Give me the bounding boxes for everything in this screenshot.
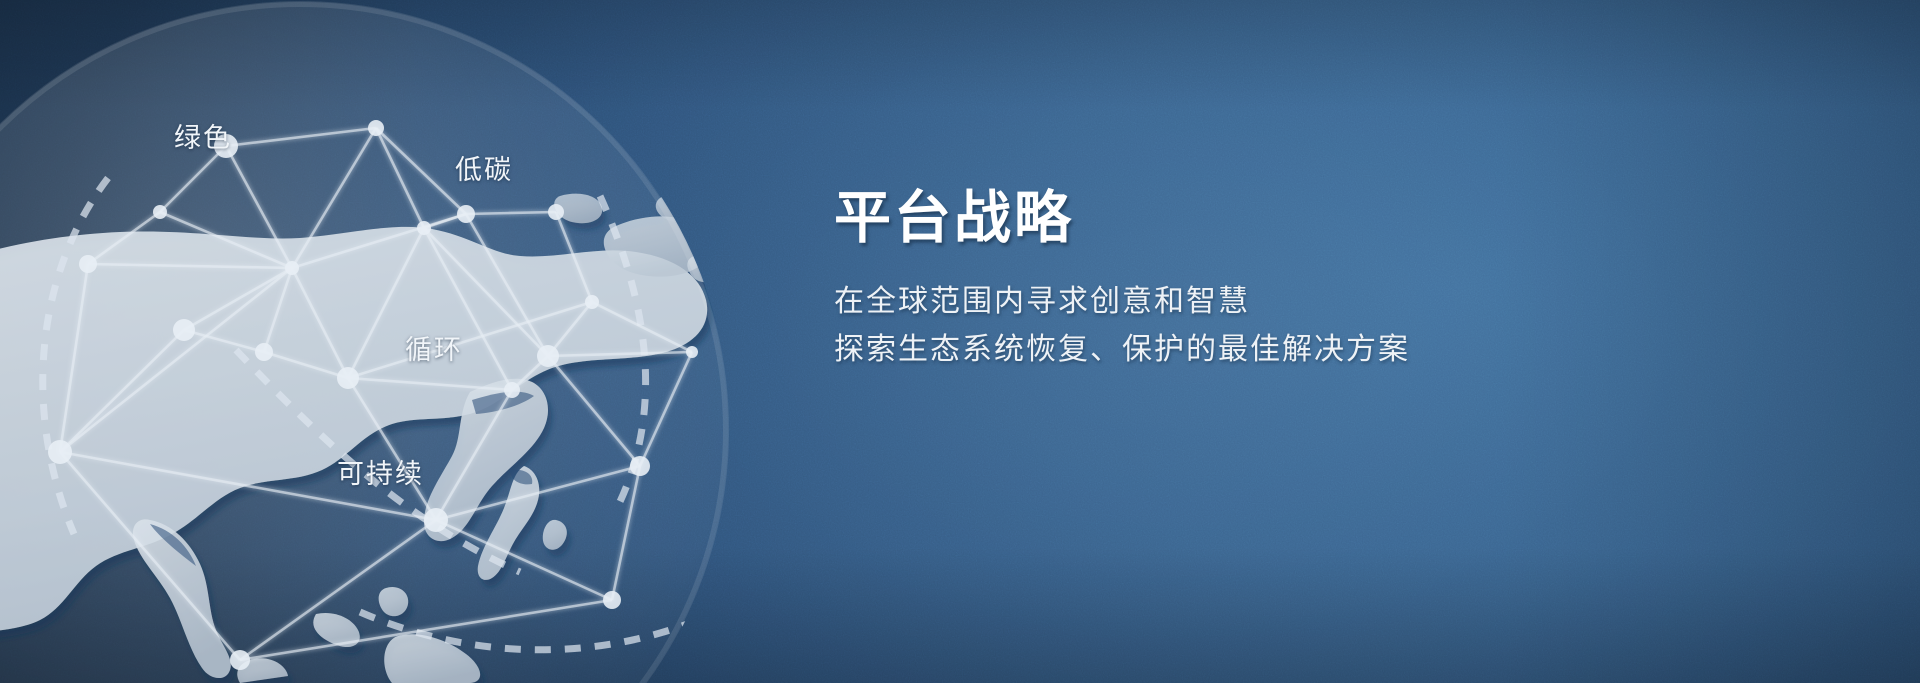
hero-banner: 绿色 低碳 循环 可持续 平台战略 在全球范围内寻求创意和智慧 探索生态系统恢复… [0,0,1920,683]
globe-label-green: 绿色 [174,125,232,152]
globe-label-low-carbon: 低碳 [455,157,513,184]
globe-graphic: 绿色 低碳 循环 可持续 [0,0,900,683]
globe-label-sustainable: 可持续 [337,461,424,488]
page-title: 平台战略 [834,186,1594,252]
subtitle-line-1: 在全球范围内寻求创意和智慧 [834,278,1594,327]
globe-label-circular: 循环 [405,337,463,364]
subtitle-line-2: 探索生态系统恢复、保护的最佳解决方案 [834,326,1594,375]
banner-copy: 平台战略 在全球范围内寻求创意和智慧 探索生态系统恢复、保护的最佳解决方案 [834,186,1594,375]
